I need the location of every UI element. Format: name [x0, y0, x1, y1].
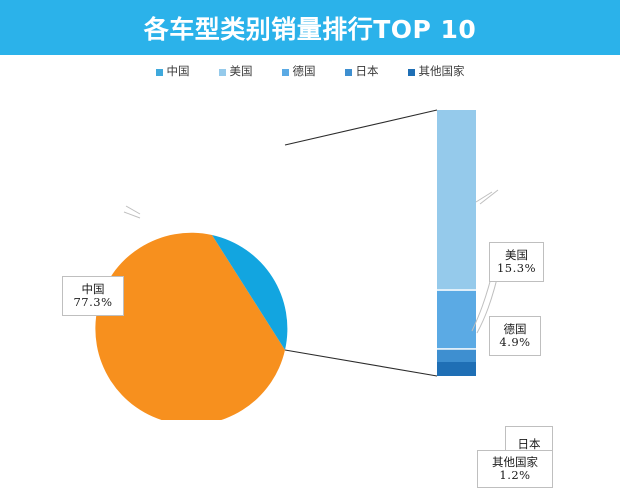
plot-area: 中国 77.3% 美国 15.3% 德国 4.9% 日本 其他国家 1.2% [0, 90, 620, 420]
legend-label-usa: 美国 [230, 66, 253, 78]
data-label-china-name: 中国 [82, 283, 105, 296]
legend-item-other[interactable]: 其他国家 [408, 66, 465, 78]
data-label-germany-name: 德国 [504, 323, 527, 336]
legend-swatch-china [156, 69, 163, 76]
data-label-other-name: 其他国家 [492, 456, 538, 469]
data-label-other-value: 1.2% [499, 469, 530, 482]
legend-swatch-usa [219, 69, 226, 76]
legend-item-japan[interactable]: 日本 [345, 66, 379, 78]
data-label-usa-name: 美国 [505, 249, 528, 262]
legend-label-china: 中国 [167, 66, 190, 78]
data-label-japan-name: 日本 [518, 438, 541, 451]
data-label-usa-value: 15.3% [497, 262, 536, 275]
data-label-china[interactable]: 中国 77.3% [62, 276, 124, 316]
legend-swatch-other [408, 69, 415, 76]
bar-segment-germany[interactable] [437, 291, 476, 348]
chart-root: 各车型类别销量排行TOP 10 中国 美国 德国 日本 其他国家 [0, 0, 620, 465]
pie-chart [95, 233, 287, 420]
data-label-germany[interactable]: 德国 4.9% [489, 316, 541, 356]
legend-item-china[interactable]: 中国 [156, 66, 190, 78]
legend-item-germany[interactable]: 德国 [282, 66, 316, 78]
stacked-bar [437, 110, 476, 376]
bar-segment-other[interactable] [437, 362, 476, 376]
chart-legend: 中国 美国 德国 日本 其他国家 [0, 62, 620, 82]
data-label-usa[interactable]: 美国 15.3% [489, 242, 544, 282]
data-label-other[interactable]: 其他国家 1.2% [477, 450, 553, 488]
bar-segment-usa[interactable] [437, 110, 476, 289]
legend-swatch-japan [345, 69, 352, 76]
page-title: 各车型类别销量排行TOP 10 [0, 0, 620, 55]
legend-label-other: 其他国家 [419, 66, 465, 78]
legend-swatch-germany [282, 69, 289, 76]
data-label-china-value: 77.3% [73, 296, 112, 309]
pie-to-bar-connectors [285, 110, 437, 376]
data-label-germany-value: 4.9% [499, 336, 530, 349]
legend-label-japan: 日本 [356, 66, 379, 78]
legend-item-usa[interactable]: 美国 [219, 66, 253, 78]
legend-label-germany: 德国 [293, 66, 316, 78]
